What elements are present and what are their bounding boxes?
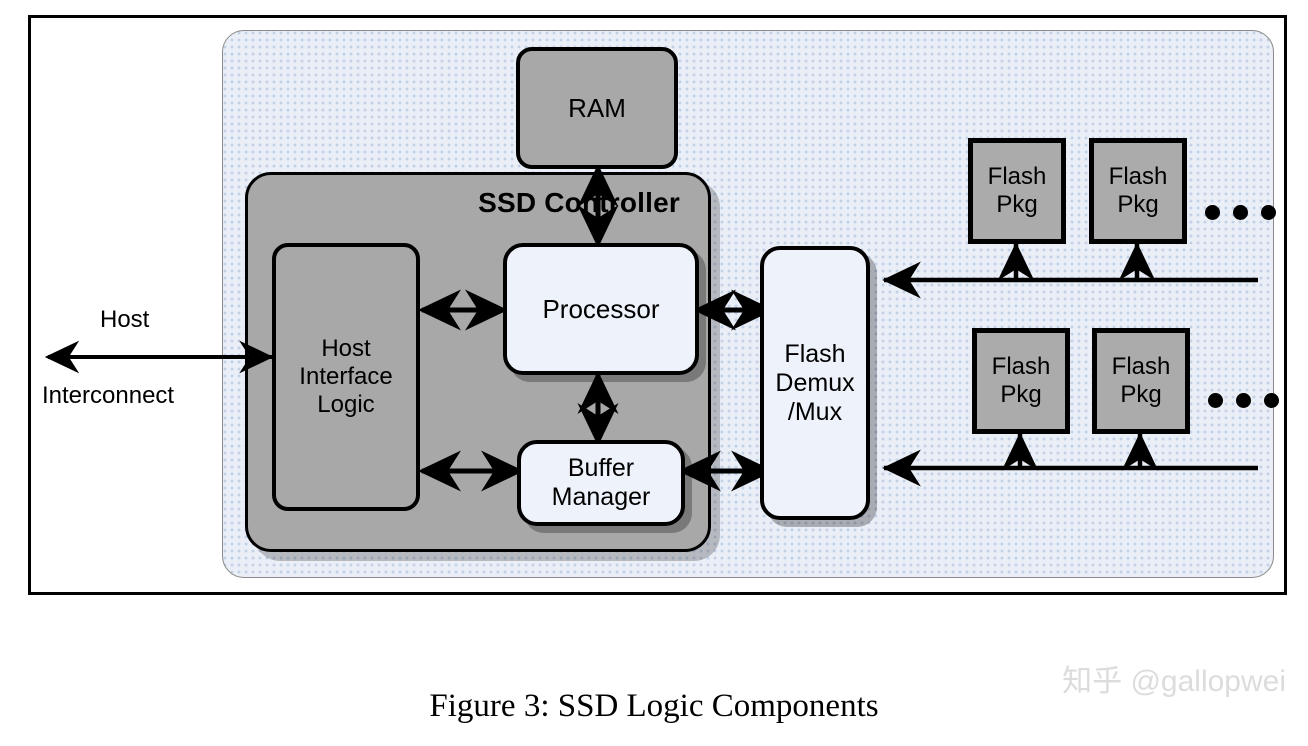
watermark: 知乎 @gallopwei <box>1062 656 1286 700</box>
block-ram[interactable]: RAM <box>516 47 678 169</box>
block-flash-pkg-3[interactable]: Flash Pkg <box>972 328 1070 434</box>
ellipsis-dot <box>1205 205 1220 220</box>
block-flash-pkg-4[interactable]: Flash Pkg <box>1092 328 1190 434</box>
block-flash-pkg-1[interactable]: Flash Pkg <box>968 138 1066 244</box>
block-flash-pkg-2[interactable]: Flash Pkg <box>1089 138 1187 244</box>
block-processor[interactable]: Processor <box>503 243 699 375</box>
ssd-controller-title: SSD Controller <box>478 187 680 219</box>
ellipsis-dot <box>1233 205 1248 220</box>
block-flash-demux-mux[interactable]: Flash Demux /Mux <box>760 246 870 520</box>
ellipsis-dot <box>1208 393 1223 408</box>
ellipsis-dot <box>1264 393 1279 408</box>
block-buffer-manager[interactable]: Buffer Manager <box>517 440 685 526</box>
ellipsis-dot <box>1261 205 1276 220</box>
block-host-interface-logic[interactable]: Host Interface Logic <box>272 243 420 511</box>
interconnect-label: Interconnect <box>42 382 174 410</box>
flash-ellipsis-bottom <box>1208 393 1279 408</box>
flash-ellipsis-top <box>1205 205 1276 220</box>
figure-root: Host Interconnect SSD Controller <box>0 0 1308 746</box>
host-label: Host <box>100 306 149 334</box>
ellipsis-dot <box>1236 393 1251 408</box>
